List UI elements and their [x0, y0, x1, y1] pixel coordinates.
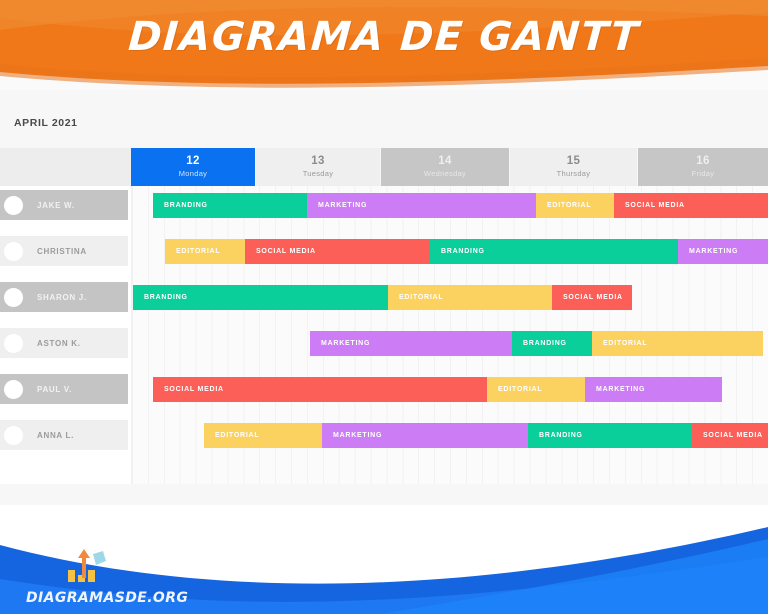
day-header-cell-16[interactable]: 16Friday — [638, 148, 768, 186]
task-bar[interactable]: BRANDING — [133, 285, 388, 310]
task-bar[interactable]: SOCIAL MEDIA — [153, 377, 487, 402]
task-bar-label: SOCIAL MEDIA — [164, 386, 224, 393]
task-bar[interactable]: MARKETING — [678, 239, 768, 264]
assignee-name: ASTON K. — [37, 339, 81, 348]
task-bar[interactable]: MARKETING — [310, 331, 512, 356]
day-name: Thursday — [557, 170, 591, 179]
site-logo-icon — [66, 548, 112, 584]
task-bar[interactable]: BRANDING — [512, 331, 592, 356]
assignee-name: ANNA L. — [37, 431, 74, 440]
task-bar[interactable]: BRANDING — [430, 239, 678, 264]
task-bar-label: MARKETING — [596, 386, 645, 393]
task-bar-label: MARKETING — [321, 340, 370, 347]
task-bar-label: MARKETING — [333, 432, 382, 439]
day-name: Wednesday — [424, 170, 466, 179]
avatar — [4, 334, 23, 353]
assignee-name: CHRISTINA — [37, 247, 87, 256]
task-bar-label: BRANDING — [523, 340, 567, 347]
task-bar-label: BRANDING — [539, 432, 583, 439]
day-header-cell-15[interactable]: 15Thursday — [510, 148, 637, 186]
gantt-chart-area: APRIL 2021 12Monday13Tuesday14Wednesday1… — [0, 90, 768, 505]
day-header-strip: 12Monday13Tuesday14Wednesday15Thursday16… — [0, 148, 768, 186]
task-bar-label: SOCIAL MEDIA — [563, 294, 623, 301]
task-row: JAKE W.BRANDINGMARKETINGEDITORIALSOCIAL … — [0, 190, 768, 220]
day-header-cell-13[interactable]: 13Tuesday — [256, 148, 380, 186]
task-row: CHRISTINAEDITORIALSOCIAL MEDIABRANDINGMA… — [0, 236, 768, 266]
task-bar[interactable]: EDITORIAL — [592, 331, 763, 356]
task-bar[interactable]: EDITORIAL — [388, 285, 552, 310]
header-banner: DIAGRAMA DE GANTT — [0, 0, 768, 90]
task-bar[interactable]: MARKETING — [585, 377, 722, 402]
assignee-name: PAUL V. — [37, 385, 72, 394]
day-name: Tuesday — [303, 170, 334, 179]
task-bar[interactable]: SOCIAL MEDIA — [552, 285, 632, 310]
day-name: Friday — [692, 170, 715, 179]
month-label: APRIL 2021 — [14, 117, 78, 129]
task-bar[interactable]: EDITORIAL — [165, 239, 245, 264]
day-header-spacer — [0, 148, 131, 186]
day-number: 16 — [696, 155, 709, 168]
assignee-label-3[interactable]: SHARON J. — [0, 282, 128, 312]
task-bar[interactable]: SOCIAL MEDIA — [245, 239, 430, 264]
day-header-cell-14[interactable]: 14Wednesday — [381, 148, 509, 186]
assignee-label-2[interactable]: CHRISTINA — [0, 236, 128, 266]
gantt-chart-page: DIAGRAMA DE GANTT APRIL 2021 12Monday13T… — [0, 0, 768, 614]
avatar — [4, 242, 23, 261]
day-number: 14 — [438, 155, 451, 168]
task-bar-label: EDITORIAL — [176, 248, 220, 255]
task-bar-label: BRANDING — [441, 248, 485, 255]
task-bar[interactable]: EDITORIAL — [487, 377, 585, 402]
task-bar[interactable]: MARKETING — [322, 423, 528, 448]
task-row: PAUL V.SOCIAL MEDIAEDITORIALMARKETING — [0, 374, 768, 404]
task-row: SHARON J.BRANDINGEDITORIALSOCIAL MEDIA — [0, 282, 768, 312]
avatar — [4, 288, 23, 307]
task-bar[interactable]: BRANDING — [528, 423, 692, 448]
task-bar[interactable]: BRANDING — [153, 193, 307, 218]
day-number: 13 — [311, 155, 324, 168]
task-row: ANNA L.EDITORIALMARKETINGBRANDINGSOCIAL … — [0, 420, 768, 450]
assignee-label-4[interactable]: ASTON K. — [0, 328, 128, 358]
task-bar-label: BRANDING — [164, 202, 208, 209]
assignee-label-5[interactable]: PAUL V. — [0, 374, 128, 404]
day-number: 15 — [567, 155, 580, 168]
day-name: Monday — [179, 170, 207, 179]
task-bar[interactable]: SOCIAL MEDIA — [614, 193, 768, 218]
assignee-label-1[interactable]: JAKE W. — [0, 190, 128, 220]
day-number: 12 — [186, 155, 199, 168]
task-bar-label: SOCIAL MEDIA — [256, 248, 316, 255]
assignee-name: JAKE W. — [37, 201, 75, 210]
task-bar[interactable]: EDITORIAL — [204, 423, 322, 448]
task-bar[interactable]: EDITORIAL — [536, 193, 614, 218]
task-bar-label: SOCIAL MEDIA — [625, 202, 685, 209]
task-bar-label: MARKETING — [318, 202, 367, 209]
task-bar-label: SOCIAL MEDIA — [703, 432, 763, 439]
avatar — [4, 426, 23, 445]
task-bar-label: MARKETING — [689, 248, 738, 255]
task-bar[interactable]: MARKETING — [307, 193, 536, 218]
task-bar-label: BRANDING — [144, 294, 188, 301]
task-bar-label: EDITORIAL — [547, 202, 591, 209]
avatar — [4, 380, 23, 399]
task-bar-label: EDITORIAL — [399, 294, 443, 301]
task-bar-label: EDITORIAL — [603, 340, 647, 347]
page-title: DIAGRAMA DE GANTT — [0, 14, 768, 60]
site-name-label: DIAGRAMASDE.ORG — [26, 590, 188, 606]
task-bar[interactable]: SOCIAL MEDIA — [692, 423, 768, 448]
assignee-name: SHARON J. — [37, 293, 87, 302]
task-bar-label: EDITORIAL — [498, 386, 542, 393]
day-header-cell-12[interactable]: 12Monday — [131, 148, 255, 186]
task-row: ASTON K.MARKETINGBRANDINGEDITORIAL — [0, 328, 768, 358]
avatar — [4, 196, 23, 215]
assignee-label-6[interactable]: ANNA L. — [0, 420, 128, 450]
task-bar-label: EDITORIAL — [215, 432, 259, 439]
